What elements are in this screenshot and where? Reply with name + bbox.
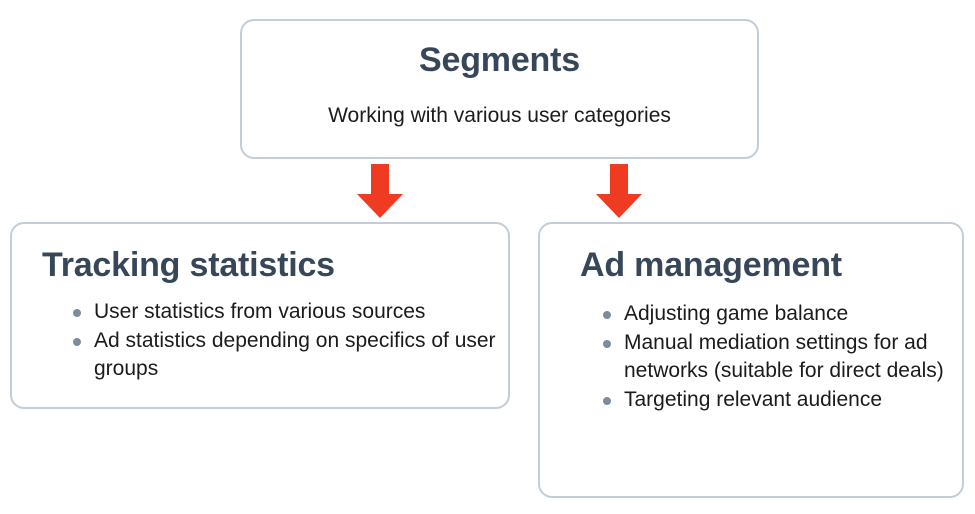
node-tracking-statistics: Tracking statistics User statistics from…	[10, 222, 510, 409]
node-segments: Segments Working with various user categ…	[240, 19, 759, 159]
ad-management-bullet-list: Adjusting game balance Manual mediation …	[600, 300, 950, 415]
list-item: Manual mediation settings for ad network…	[600, 329, 950, 385]
list-item: Targeting relevant audience	[600, 386, 950, 414]
list-item: Ad statistics depending on specifics of …	[70, 327, 502, 383]
tracking-statistics-bullet-list: User statistics from various sources Ad …	[70, 298, 502, 384]
diagram-canvas: Segments Working with various user categ…	[0, 0, 975, 514]
list-item: User statistics from various sources	[70, 298, 502, 326]
node-ad-management: Ad management Adjusting game balance Man…	[538, 222, 964, 498]
node-tracking-statistics-heading: Tracking statistics	[42, 248, 335, 282]
node-segments-title: Segments	[242, 43, 757, 77]
down-arrow-icon	[357, 164, 403, 218]
down-arrow-icon	[596, 164, 642, 218]
node-segments-subtitle: Working with various user categories	[242, 105, 757, 126]
list-item: Adjusting game balance	[600, 300, 950, 328]
node-ad-management-heading: Ad management	[580, 248, 842, 282]
